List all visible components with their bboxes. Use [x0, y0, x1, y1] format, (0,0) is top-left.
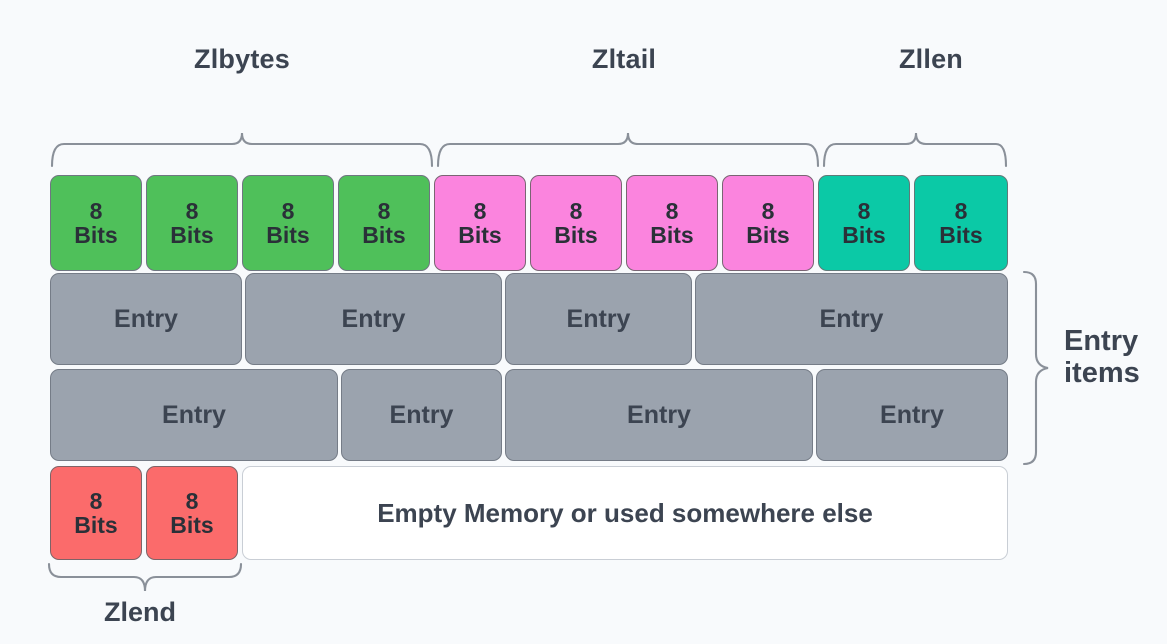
entry-label: Entry — [114, 305, 178, 334]
table-row-entry: Entry — [505, 273, 692, 365]
brace-entry-items — [1018, 270, 1058, 466]
bit-block-6: 8 Bits — [626, 175, 718, 271]
zlend-block-value: 8 — [186, 489, 199, 513]
brace-zltail — [438, 133, 818, 166]
bit-block-unit: Bits — [842, 223, 885, 247]
bit-block-unit: Bits — [458, 223, 501, 247]
entry-items-label-line2: items — [1064, 357, 1140, 389]
bit-block-value: 8 — [90, 199, 103, 223]
entry-label: Entry — [627, 401, 691, 430]
bit-block-unit: Bits — [362, 223, 405, 247]
bit-block-unit: Bits — [650, 223, 693, 247]
bit-block-8: 8 Bits — [818, 175, 910, 271]
table-row-entry: Entry — [50, 273, 242, 365]
entry-label: Entry — [162, 401, 226, 430]
bit-block-value: 8 — [858, 199, 871, 223]
bit-block-value: 8 — [186, 199, 199, 223]
bit-block-2: 8 Bits — [242, 175, 334, 271]
bit-block-unit: Bits — [554, 223, 597, 247]
table-row-entry: Entry — [816, 369, 1008, 461]
zlend-block-unit: Bits — [74, 513, 117, 537]
bit-block-value: 8 — [955, 199, 968, 223]
bit-block-value: 8 — [762, 199, 775, 223]
entry-items-label: Entry items — [1064, 325, 1140, 390]
empty-memory-label: Empty Memory or used somewhere else — [377, 498, 873, 529]
segment-label-zlbytes: Zlbytes — [142, 44, 342, 75]
bit-block-unit: Bits — [74, 223, 117, 247]
bit-block-value: 8 — [570, 199, 583, 223]
bit-block-9: 8 Bits — [914, 175, 1008, 271]
zlend-block-value: 8 — [90, 489, 103, 513]
table-row-entry: Entry — [50, 369, 338, 461]
zlend-block-1: 8 Bits — [146, 466, 238, 560]
bit-block-1: 8 Bits — [146, 175, 238, 271]
bit-block-4: 8 Bits — [434, 175, 526, 271]
entry-label: Entry — [342, 305, 406, 334]
segment-label-zllen: Zllen — [831, 44, 1031, 75]
top-braces — [50, 130, 1010, 170]
entry-label: Entry — [820, 305, 884, 334]
table-row-entry: Entry — [245, 273, 502, 365]
zlend-block-0: 8 Bits — [50, 466, 142, 560]
bit-block-unit: Bits — [939, 223, 982, 247]
table-row-entry: Entry — [341, 369, 502, 461]
bit-block-value: 8 — [282, 199, 295, 223]
brace-zlbytes — [52, 133, 432, 166]
zlend-label: Zlend — [104, 597, 176, 628]
bit-block-7: 8 Bits — [722, 175, 814, 271]
bit-block-3: 8 Bits — [338, 175, 430, 271]
table-row-entry: Entry — [695, 273, 1008, 365]
bit-block-value: 8 — [378, 199, 391, 223]
bit-block-0: 8 Bits — [50, 175, 142, 271]
brace-zllen — [824, 133, 1006, 166]
entry-label: Entry — [390, 401, 454, 430]
bit-block-value: 8 — [666, 199, 679, 223]
bit-block-5: 8 Bits — [530, 175, 622, 271]
bit-block-unit: Bits — [746, 223, 789, 247]
bit-block-unit: Bits — [266, 223, 309, 247]
brace-zlend — [46, 562, 246, 600]
zlend-block-unit: Bits — [170, 513, 213, 537]
entry-label: Entry — [567, 305, 631, 334]
bit-block-value: 8 — [474, 199, 487, 223]
segment-label-zltail: Zltail — [524, 44, 724, 75]
entry-label: Entry — [880, 401, 944, 430]
bit-block-unit: Bits — [170, 223, 213, 247]
empty-memory-block: Empty Memory or used somewhere else — [242, 466, 1008, 560]
table-row-entry: Entry — [505, 369, 813, 461]
ziplist-diagram: Zlbytes Zltail Zllen 8 Bits 8 Bits 8 Bit… — [0, 0, 1167, 644]
entry-items-label-line1: Entry — [1064, 325, 1140, 357]
